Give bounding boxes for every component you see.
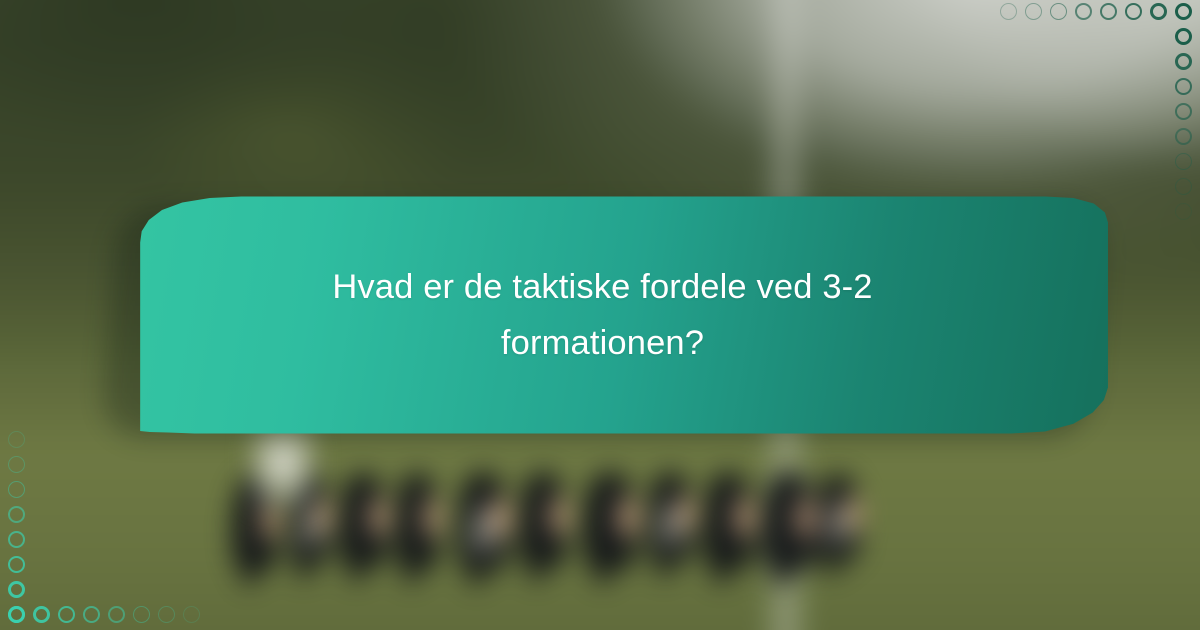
background-figure-sock [773, 552, 790, 586]
background-figure-sock [713, 551, 729, 584]
decor-circle [183, 606, 200, 623]
background-figure-limb [617, 497, 641, 536]
background-figure-sock [594, 551, 611, 584]
background-figure-sock [404, 551, 418, 584]
question-text: Hvad er de taktiske fordele ved 3-2 form… [95, 259, 1110, 371]
decor-circle [1175, 103, 1192, 120]
background-figure-highlight [660, 505, 679, 547]
decor-circle [108, 606, 125, 623]
background-figure-sock [468, 552, 484, 586]
background-figure-limb [423, 498, 442, 537]
background-figure-highlight [301, 507, 318, 549]
decor-circle [1075, 3, 1092, 20]
decor-circle [1150, 3, 1167, 20]
decor-circle [1175, 203, 1192, 220]
background-figure-sock [297, 549, 310, 580]
background-figure-highlight [829, 505, 847, 545]
decor-circle [1025, 3, 1042, 20]
decor-circle [8, 606, 25, 623]
decor-circle [1175, 153, 1192, 170]
decor-circle [8, 431, 25, 448]
background-figure-sock [826, 546, 839, 576]
decor-circle [1000, 3, 1017, 20]
background-figure-limb [369, 498, 390, 536]
decor-circle [133, 606, 150, 623]
decor-circle [83, 606, 100, 623]
decor-circle [1125, 3, 1142, 20]
decor-circle [58, 606, 75, 623]
decor-circle [8, 506, 25, 523]
decor-circle [1175, 28, 1192, 45]
decor-circle [8, 581, 25, 598]
decor-circle [1175, 3, 1192, 20]
background-figure-limb [734, 497, 756, 536]
decor-circle [8, 531, 25, 548]
slide-canvas: Hvad er de taktiske fordele ved 3-2 form… [0, 0, 1200, 630]
background-figure-sock [242, 553, 256, 586]
decor-circle [158, 606, 175, 623]
decor-circle [33, 606, 50, 623]
decor-circle [8, 481, 25, 498]
decor-circle [1175, 78, 1192, 95]
question-card: Hvad er de taktiske fordele ved 3-2 form… [95, 190, 1110, 440]
decor-circle [1175, 178, 1192, 195]
decor-circle [1100, 3, 1117, 20]
background-figure-limb [549, 497, 570, 535]
background-figure-sock [529, 549, 544, 582]
decor-circle [8, 556, 25, 573]
background-figure-sock [349, 550, 364, 582]
decor-circle [1175, 128, 1192, 145]
decor-circle [1050, 3, 1067, 20]
background-figure-highlight [472, 508, 494, 554]
background-figure-sock [657, 547, 671, 578]
decor-circle [1175, 53, 1192, 70]
decor-circle [8, 456, 25, 473]
